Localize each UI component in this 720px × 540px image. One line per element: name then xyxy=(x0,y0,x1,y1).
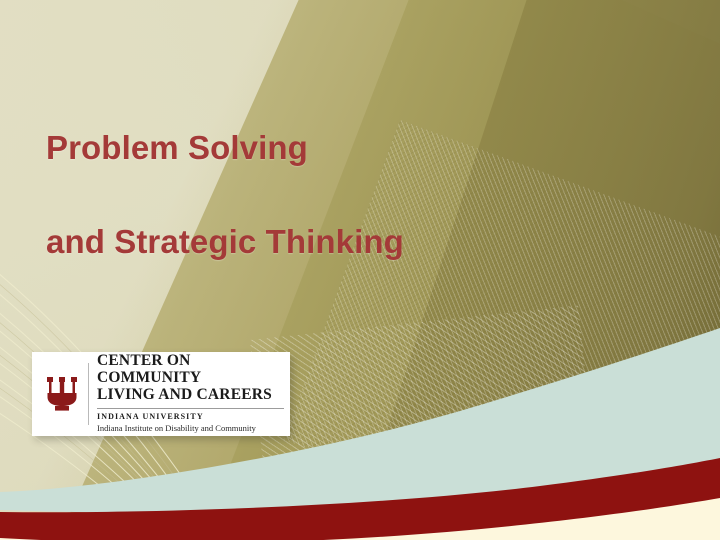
logo-center-name-line-2: LIVING AND CAREERS xyxy=(97,386,272,403)
logo-center-name: CENTER ON COMMUNITY LIVING AND CAREERS xyxy=(97,353,284,403)
logo-rule xyxy=(97,408,284,409)
slide-title-line-2: and Strategic Thinking xyxy=(46,219,404,266)
slide-title: Problem Solving and Strategic Thinking xyxy=(46,78,404,312)
organization-logo: CENTER ON COMMUNITY LIVING AND CAREERS I… xyxy=(32,352,290,436)
logo-institute: Indiana Institute on Disability and Comm… xyxy=(97,423,284,434)
logo-university: INDIANA UNIVERSITY xyxy=(97,412,284,422)
slide-title-line-1: Problem Solving xyxy=(46,125,404,172)
iu-trident-icon xyxy=(32,375,88,413)
logo-text-block: CENTER ON COMMUNITY LIVING AND CAREERS I… xyxy=(89,353,290,434)
presentation-slide: Problem Solving and Strategic Thinking C xyxy=(0,0,720,540)
logo-center-name-line-1: CENTER ON COMMUNITY xyxy=(97,352,201,386)
